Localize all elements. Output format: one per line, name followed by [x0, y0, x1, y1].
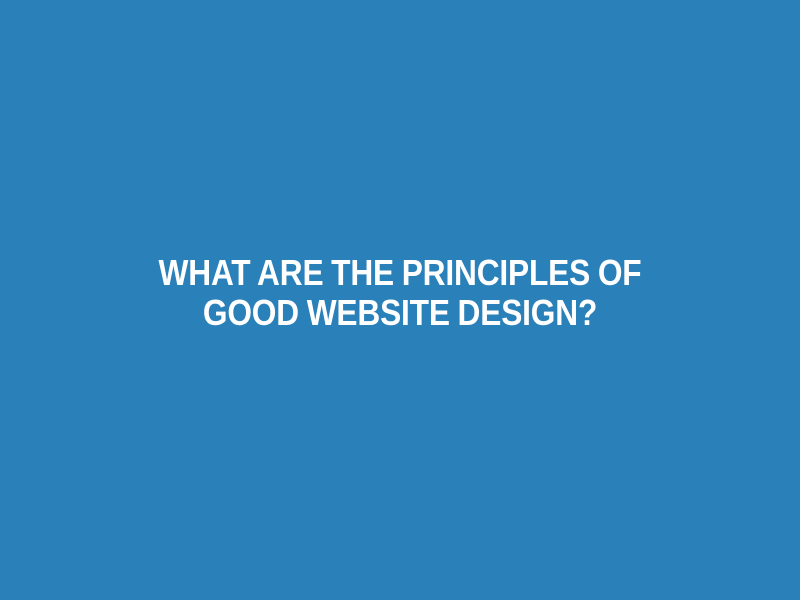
hero-title-container: What are the principles of good website … — [0, 253, 800, 333]
page-title: What are the principles of good website … — [118, 253, 681, 333]
hero-card: What are the principles of good website … — [0, 0, 800, 600]
